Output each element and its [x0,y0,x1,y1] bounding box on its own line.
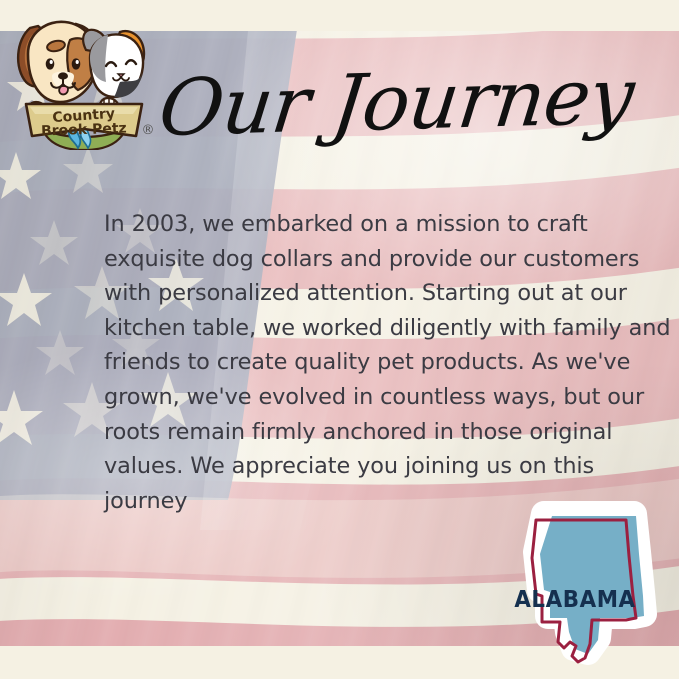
alabama-state-outline-icon [492,492,679,679]
state-sticker-alabama: ALABAMA [492,492,679,679]
logo-graphic: Country Brook Petz ® [8,10,160,150]
country-brook-petz-logo: Country Brook Petz ® [8,10,160,150]
body-paragraph: In 2003, we embarked on a mission to cra… [104,207,679,518]
state-label: ALABAMA [498,587,652,613]
cat-illustration [83,30,144,115]
page-title: Our Journey [168,55,588,165]
page-title-text: Our Journey [155,51,641,154]
poster-canvas: Country Brook Petz ® Our Journey In 2003… [0,0,679,679]
registered-trademark-mark: ® [142,123,155,138]
logo-line-2: Brook Petz [41,121,127,140]
page-title-script: Our Journey [168,55,588,165]
